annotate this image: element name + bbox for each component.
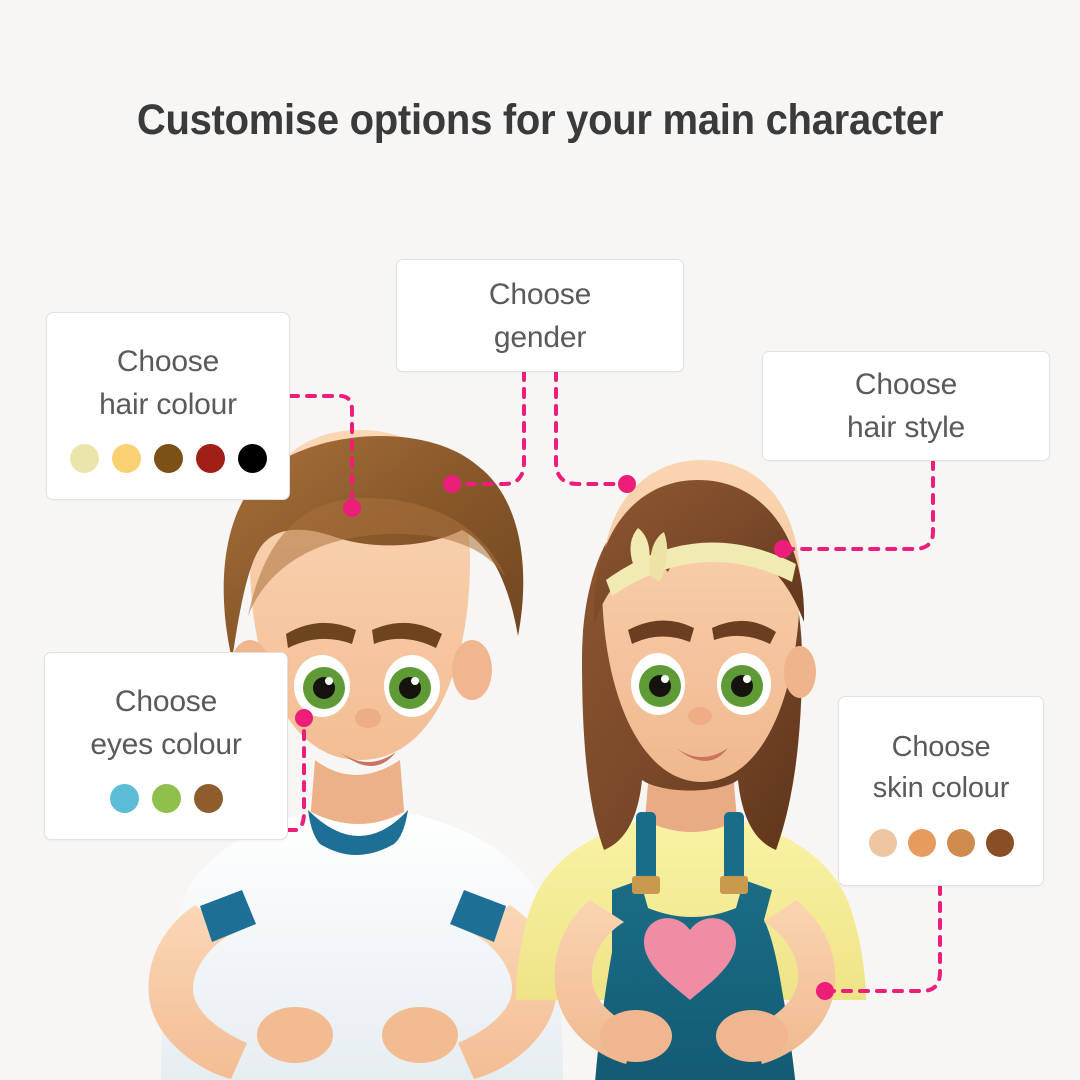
card-skin-colour[interactable]: Choose skin colour bbox=[838, 696, 1044, 886]
card-gender-label: Choose gender bbox=[489, 274, 591, 359]
skin-colour-swatch-list bbox=[869, 829, 1014, 857]
hair-colour-swatch[interactable] bbox=[112, 444, 141, 473]
eyes-colour-swatch-list bbox=[110, 784, 223, 813]
card-gender[interactable]: Choose gender bbox=[396, 259, 684, 372]
card-hair-colour[interactable]: Choose hair colour bbox=[46, 312, 290, 500]
card-hair-colour-label: Choose hair colour bbox=[99, 341, 237, 426]
card-eyes-colour-label: Choose eyes colour bbox=[90, 681, 241, 766]
hair-colour-swatch-list bbox=[70, 444, 267, 473]
skin-colour-swatch[interactable] bbox=[947, 829, 975, 857]
hair-colour-swatch[interactable] bbox=[196, 444, 225, 473]
eyes-colour-swatch[interactable] bbox=[110, 784, 139, 813]
hair-colour-swatch[interactable] bbox=[238, 444, 267, 473]
hair-colour-swatch[interactable] bbox=[154, 444, 183, 473]
hair-colour-swatch[interactable] bbox=[70, 444, 99, 473]
character-illustration bbox=[0, 0, 1080, 1080]
page-title: Customise options for your main characte… bbox=[38, 96, 1042, 145]
eyes-colour-swatch[interactable] bbox=[152, 784, 181, 813]
girl-character bbox=[516, 460, 866, 1080]
eyes-colour-swatch[interactable] bbox=[194, 784, 223, 813]
skin-colour-swatch[interactable] bbox=[869, 829, 897, 857]
skin-colour-swatch[interactable] bbox=[908, 829, 936, 857]
card-hair-style[interactable]: Choose hair style bbox=[762, 351, 1050, 461]
card-eyes-colour[interactable]: Choose eyes colour bbox=[44, 652, 288, 840]
card-hair-style-label: Choose hair style bbox=[847, 364, 965, 449]
customisation-screen: Customise options for your main characte… bbox=[0, 0, 1080, 1080]
skin-colour-swatch[interactable] bbox=[986, 829, 1014, 857]
card-skin-colour-label: Choose skin colour bbox=[873, 727, 1009, 809]
